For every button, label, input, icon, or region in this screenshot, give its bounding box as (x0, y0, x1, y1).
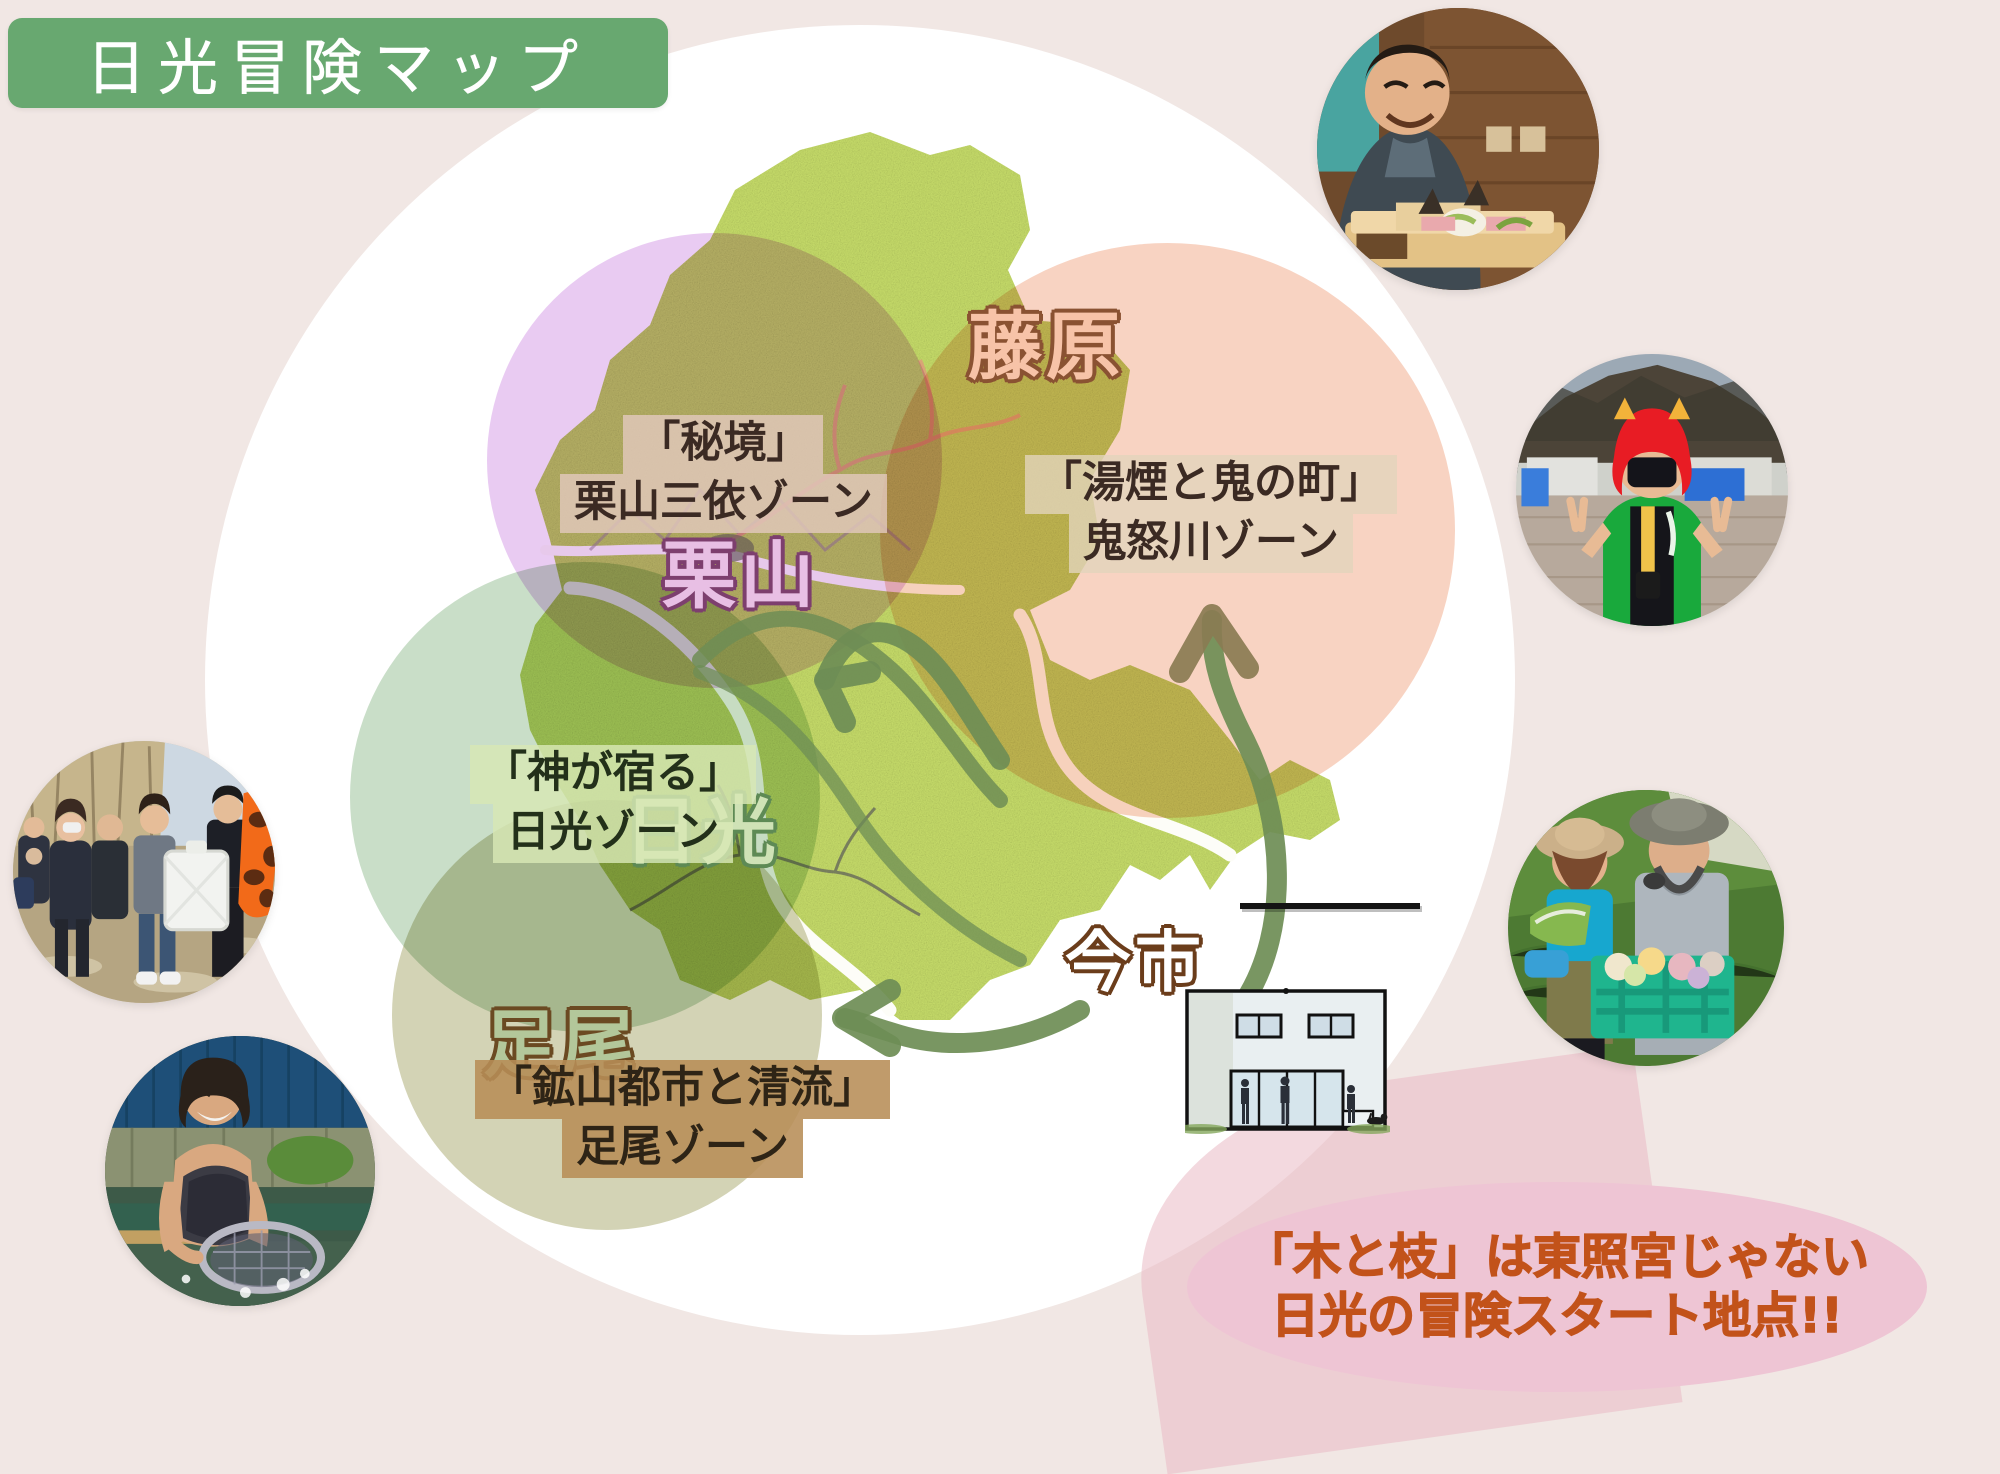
zone-catchphrase-fujiwara: 「湯煙と鬼の町」 (1025, 455, 1397, 514)
page-title: 日光冒険マップ (86, 20, 590, 107)
zone-name-fujiwara: 鬼怒川ゾーン (1069, 514, 1353, 573)
city-label-fujiwara: 藤原 (968, 310, 1124, 384)
photo-winter-tour (13, 741, 275, 1003)
zone-label-fujiwara: 「湯煙と鬼の町」 鬼怒川ゾーン (1025, 455, 1397, 573)
zone-label-nikko: 「神が宿る」 日光ゾーン (470, 745, 756, 863)
building-svg (1185, 985, 1390, 1135)
start-point-building (1185, 985, 1390, 1135)
building-roof-line (1240, 903, 1420, 909)
zone-catchphrase-nikko: 「神が宿る」 (470, 745, 756, 804)
zone-name-kuriyama: 栗山三依ゾーン (560, 474, 887, 533)
photo-oni-guide (1516, 354, 1788, 626)
photo-chef-tray-svg (1317, 8, 1599, 290)
zone-catchphrase-kuriyama: 「秘境」 (623, 415, 823, 474)
photo-winter-tour-svg (13, 741, 275, 1003)
start-point-callout: 「木と枝」は東照宮じゃない 日光の冒険スタート地点!! (1187, 1182, 1927, 1392)
person-figure-a (1241, 1079, 1249, 1124)
city-label-imaichi: 今市 (1065, 930, 1205, 996)
page-title-banner: 日光冒険マップ (8, 18, 668, 108)
zone-name-ashio: 足尾ゾーン (562, 1119, 803, 1178)
person-figure-c (1347, 1085, 1355, 1123)
building-left-shade (1189, 993, 1233, 1127)
photo-oni-guide-svg (1516, 354, 1788, 626)
zone-label-ashio: 「鉱山都市と清流」 足尾ゾーン (475, 1060, 890, 1178)
callout-line-2: 日光の冒険スタート地点!! (1271, 1287, 1843, 1346)
city-label-kuriyama: 栗山 (662, 539, 818, 613)
photo-farmers-crate-svg (1508, 790, 1784, 1066)
photo-fish-net-svg (105, 1036, 375, 1306)
photo-chef-tray (1317, 8, 1599, 290)
roof-light-dot (1283, 988, 1289, 994)
photo-fish-net (105, 1036, 375, 1306)
nikko-adventure-map: 日光冒険マップ (0, 0, 2000, 1414)
zone-catchphrase-ashio: 「鉱山都市と清流」 (475, 1060, 890, 1119)
callout-line-1: 「木と枝」は東照宮じゃない (1245, 1228, 1869, 1287)
zone-name-nikko: 日光ゾーン (493, 804, 734, 863)
photo-farmers-crate (1508, 790, 1784, 1066)
zone-label-kuriyama: 「秘境」 栗山三依ゾーン (560, 415, 887, 533)
